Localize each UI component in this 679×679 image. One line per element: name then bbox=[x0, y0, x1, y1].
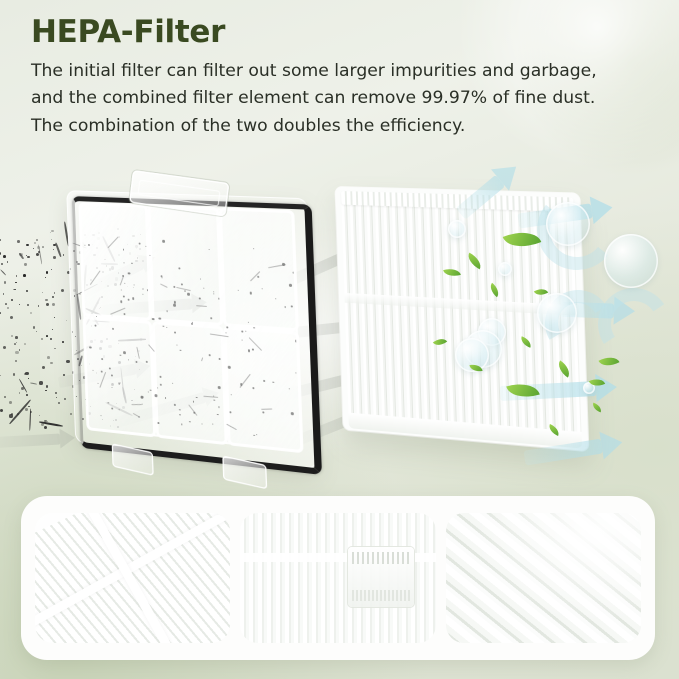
air-bubble bbox=[604, 234, 658, 288]
thumb3-highlight bbox=[446, 513, 641, 643]
trapped-particles bbox=[84, 235, 300, 441]
thumb-macro-pleat-ridges[interactable] bbox=[446, 513, 641, 643]
thumb2-detail-inset bbox=[348, 547, 414, 607]
thumb-diagonal-pleat-panel[interactable] bbox=[35, 513, 230, 643]
description-text: The initial filter can filter out some l… bbox=[31, 58, 656, 142]
air-swirl bbox=[591, 281, 676, 366]
product-feature-image: HEPA-Filter The initial filter can filte… bbox=[0, 0, 679, 679]
header-block: HEPA-Filter The initial filter can filte… bbox=[31, 16, 656, 141]
description-line-2: and the combined filter element can remo… bbox=[31, 85, 656, 113]
description-line-3: The combination of the two doubles the e… bbox=[31, 113, 656, 141]
thumbnail-strip bbox=[21, 496, 655, 660]
description-line-1: The initial filter can filter out some l… bbox=[31, 58, 656, 86]
air-bubble bbox=[537, 293, 577, 333]
air-bubble bbox=[498, 262, 512, 276]
hero-illustration bbox=[0, 168, 679, 488]
air-bubble bbox=[448, 220, 466, 238]
air-bubble bbox=[546, 202, 590, 246]
pre-filter-frame bbox=[58, 180, 330, 470]
green-leaf bbox=[591, 403, 603, 413]
thumb-vertical-pleat-detail[interactable] bbox=[240, 513, 435, 643]
page-title: HEPA-Filter bbox=[31, 16, 656, 49]
